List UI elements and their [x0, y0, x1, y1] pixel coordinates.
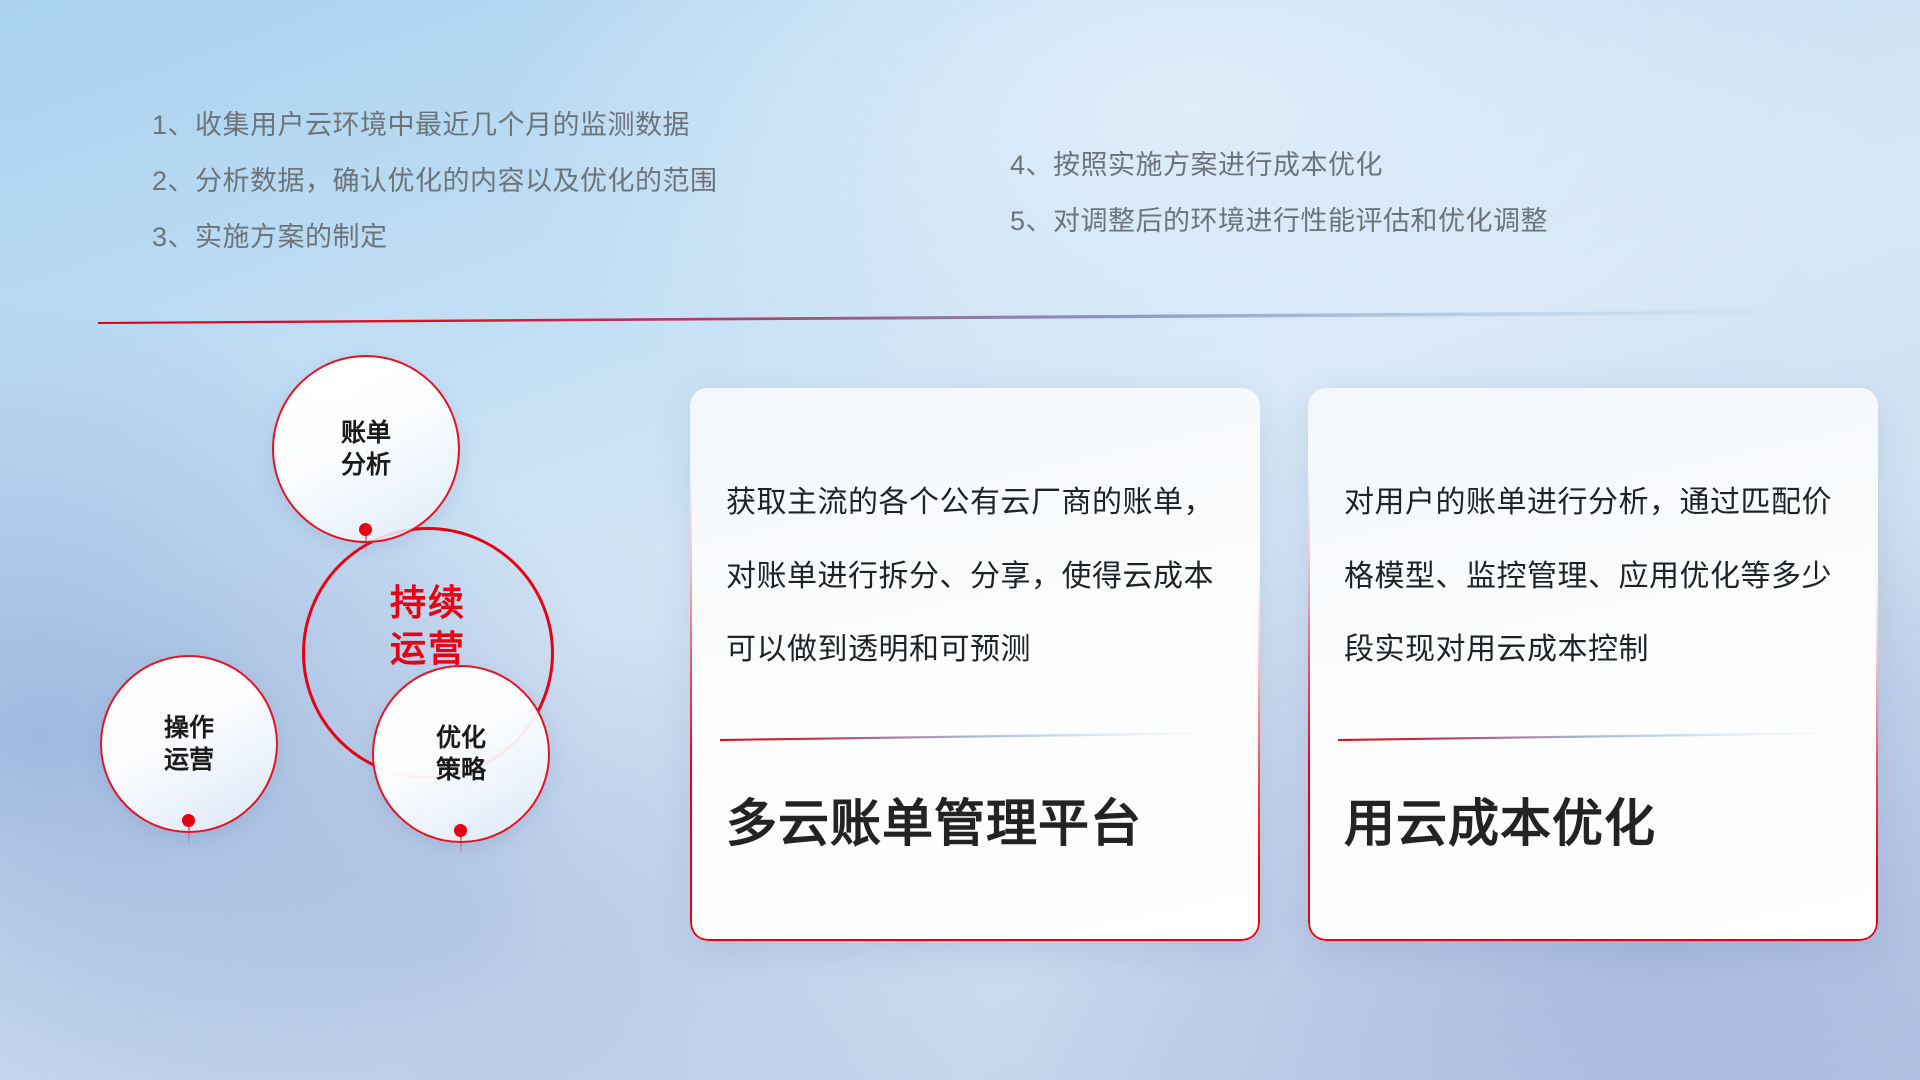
card-body-text: 获取主流的各个公有云厂商的账单，对账单进行拆分、分享，使得云成本可以做到透明和可… — [726, 466, 1230, 687]
node-label-line-2: 运营 — [164, 744, 214, 776]
step-item: 5、对调整后的环境进行性能评估和优化调整 — [1010, 208, 1830, 235]
card-title: 多云账单管理平台 — [726, 796, 1236, 852]
node-dot-optimization-policy — [454, 824, 467, 837]
node-dot-operation-ops — [182, 814, 195, 827]
diagram-node-bill-analysis[interactable]: 账单 分析 — [272, 355, 460, 543]
card-body-text: 对用户的账单进行分析，通过匹配价格模型、监控管理、应用优化等多少段实现对用云成本… — [1344, 466, 1848, 687]
step-item: 2、分析数据，确认优化的内容以及优化的范围 — [152, 168, 912, 195]
card-accent-rule — [720, 728, 1210, 737]
diagram-node-operation-ops[interactable]: 操作 运营 — [100, 655, 278, 833]
node-label-line-2: 分析 — [341, 449, 391, 481]
section-divider — [98, 310, 1838, 324]
diagram-node-optimization-policy[interactable]: 优化 策略 — [372, 665, 550, 843]
steps-list-left: 1、收集用户云环境中最近几个月的监测数据 2、分析数据，确认优化的内容以及优化的… — [152, 112, 912, 280]
step-item: 4、按照实施方案进行成本优化 — [1010, 152, 1830, 179]
node-dot-bill-analysis — [359, 523, 372, 536]
node-label-line-2: 策略 — [436, 754, 486, 786]
card-title: 用云成本优化 — [1344, 796, 1854, 852]
node-label-line-1: 账单 — [341, 417, 391, 449]
info-card-cloud-cost-optimization[interactable]: 对用户的账单进行分析，通过匹配价格模型、监控管理、应用优化等多少段实现对用云成本… — [1308, 388, 1878, 941]
info-card-multi-cloud-bill-platform[interactable]: 获取主流的各个公有云厂商的账单，对账单进行拆分、分享，使得云成本可以做到透明和可… — [690, 388, 1260, 941]
card-accent-rule — [1338, 728, 1828, 737]
node-label-line-1: 优化 — [436, 722, 486, 754]
diagram-center-label: 持续 运营 — [302, 580, 554, 672]
step-item: 1、收集用户云环境中最近几个月的监测数据 — [152, 112, 912, 139]
center-label-line-1: 持续 — [302, 580, 554, 626]
continuous-operation-diagram: 持续 运营 账单 分析 操作 运营 优化 策略 — [100, 355, 660, 955]
steps-list-right: 4、按照实施方案进行成本优化 5、对调整后的环境进行性能评估和优化调整 — [1010, 152, 1830, 264]
center-label-line-2: 运营 — [302, 626, 554, 672]
step-item: 3、实施方案的制定 — [152, 224, 912, 251]
node-label-line-1: 操作 — [164, 712, 214, 744]
